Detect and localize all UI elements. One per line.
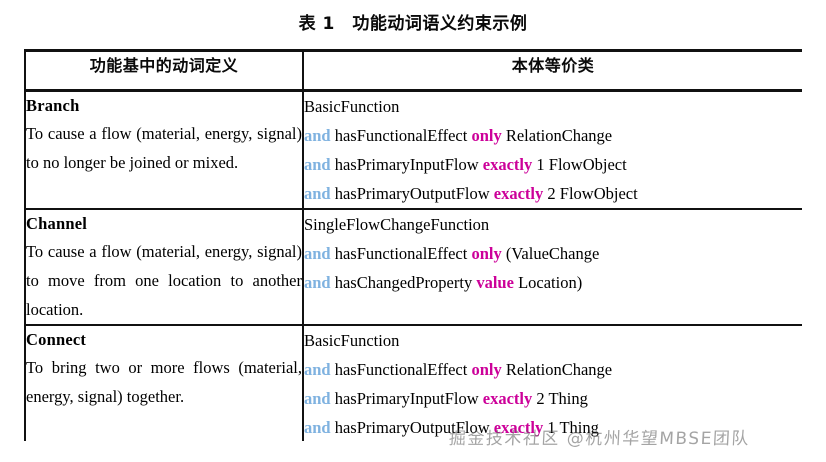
keyword-restriction: exactly [494,418,543,437]
column-header-ontology-class: 本体等价类 [303,51,802,91]
keyword-restriction: value [476,273,514,292]
axiom-property: hasFunctionalEffect [335,360,468,379]
table-caption: 表 1 功能动词语义约束示例 [0,9,826,34]
verb-definition-cell: Connect To bring two or more flows (mate… [25,325,303,441]
keyword-and: and [304,273,331,292]
column-header-verb-definition: 功能基中的动词定义 [25,51,303,91]
axiom-property: hasChangedProperty [335,273,472,292]
keyword-and: and [304,184,331,203]
axiom-line: and hasFunctionalEffect only (ValueChang… [304,239,802,268]
table-row: Channel To cause a flow (material, energ… [25,209,802,325]
axiom-filler: (ValueChange [506,244,599,263]
axiom-line: and hasFunctionalEffect only RelationCha… [304,355,802,384]
axiom-property: hasPrimaryOutputFlow [335,418,490,437]
keyword-restriction: only [471,244,501,263]
axiom-filler: 1 FlowObject [536,155,626,174]
verb-term: Branch [26,92,302,119]
table-row: Connect To bring two or more flows (mate… [25,325,802,441]
axiom-filler: Location) [518,273,582,292]
keyword-and: and [304,244,331,263]
axiom-filler: RelationChange [506,126,612,145]
axiom-line: and hasPrimaryInputFlow exactly 1 FlowOb… [304,150,802,179]
verb-term: Connect [26,326,302,353]
keyword-restriction: exactly [494,184,543,203]
table-body: Branch To cause a flow (material, energy… [25,91,802,442]
axiom-class-name: BasicFunction [304,92,802,121]
axiom-line: and hasPrimaryInputFlow exactly 2 Thing [304,384,802,413]
ontology-axiom-cell: BasicFunction and hasFunctionalEffect on… [303,325,802,441]
keyword-and: and [304,126,331,145]
axiom-filler: 2 Thing [536,389,588,408]
table-container: 功能基中的动词定义 本体等价类 Branch To cause a flow (… [24,49,802,441]
axiom-filler: 2 FlowObject [547,184,637,203]
axiom-property: hasPrimaryInputFlow [335,155,479,174]
verb-term: Channel [26,210,302,237]
verb-definition-cell: Channel To cause a flow (material, energ… [25,209,303,325]
axiom-property: hasPrimaryOutputFlow [335,184,490,203]
axiom-filler: RelationChange [506,360,612,379]
keyword-restriction: only [471,126,501,145]
axiom-line: and hasChangedProperty value Location) [304,268,802,297]
table-row: Branch To cause a flow (material, energy… [25,91,802,210]
ontology-axiom-cell: BasicFunction and hasFunctionalEffect on… [303,91,802,210]
verb-definition-text: To cause a flow (material, energy, signa… [26,119,302,177]
verb-definition-cell: Branch To cause a flow (material, energy… [25,91,303,210]
axiom-filler: 1 Thing [547,418,599,437]
keyword-and: and [304,389,331,408]
table-header-row: 功能基中的动词定义 本体等价类 [25,51,802,91]
axiom-class-name: BasicFunction [304,326,802,355]
keyword-and: and [304,360,331,379]
table-header: 功能基中的动词定义 本体等价类 [25,51,802,91]
keyword-restriction: exactly [483,389,532,408]
verb-definition-text: To cause a flow (material, energy, signa… [26,237,302,324]
keyword-restriction: exactly [483,155,532,174]
axiom-property: hasPrimaryInputFlow [335,389,479,408]
axiom-line: and hasPrimaryOutputFlow exactly 1 Thing [304,413,802,441]
verb-definition-text: To bring two or more flows (material, en… [26,353,302,411]
document-page: 表 1 功能动词语义约束示例 功能基中的动词定义 本体等价类 Branch To… [0,0,826,462]
keyword-restriction: only [471,360,501,379]
keyword-and: and [304,418,331,437]
ontology-axiom-cell: SingleFlowChangeFunction and hasFunction… [303,209,802,325]
axiom-property: hasFunctionalEffect [335,126,468,145]
axiom-class-name: SingleFlowChangeFunction [304,210,802,239]
axiom-line: and hasFunctionalEffect only RelationCha… [304,121,802,150]
keyword-and: and [304,155,331,174]
axiom-line: and hasPrimaryOutputFlow exactly 2 FlowO… [304,179,802,208]
axiom-property: hasFunctionalEffect [335,244,468,263]
semantic-constraint-table: 功能基中的动词定义 本体等价类 Branch To cause a flow (… [24,49,802,441]
